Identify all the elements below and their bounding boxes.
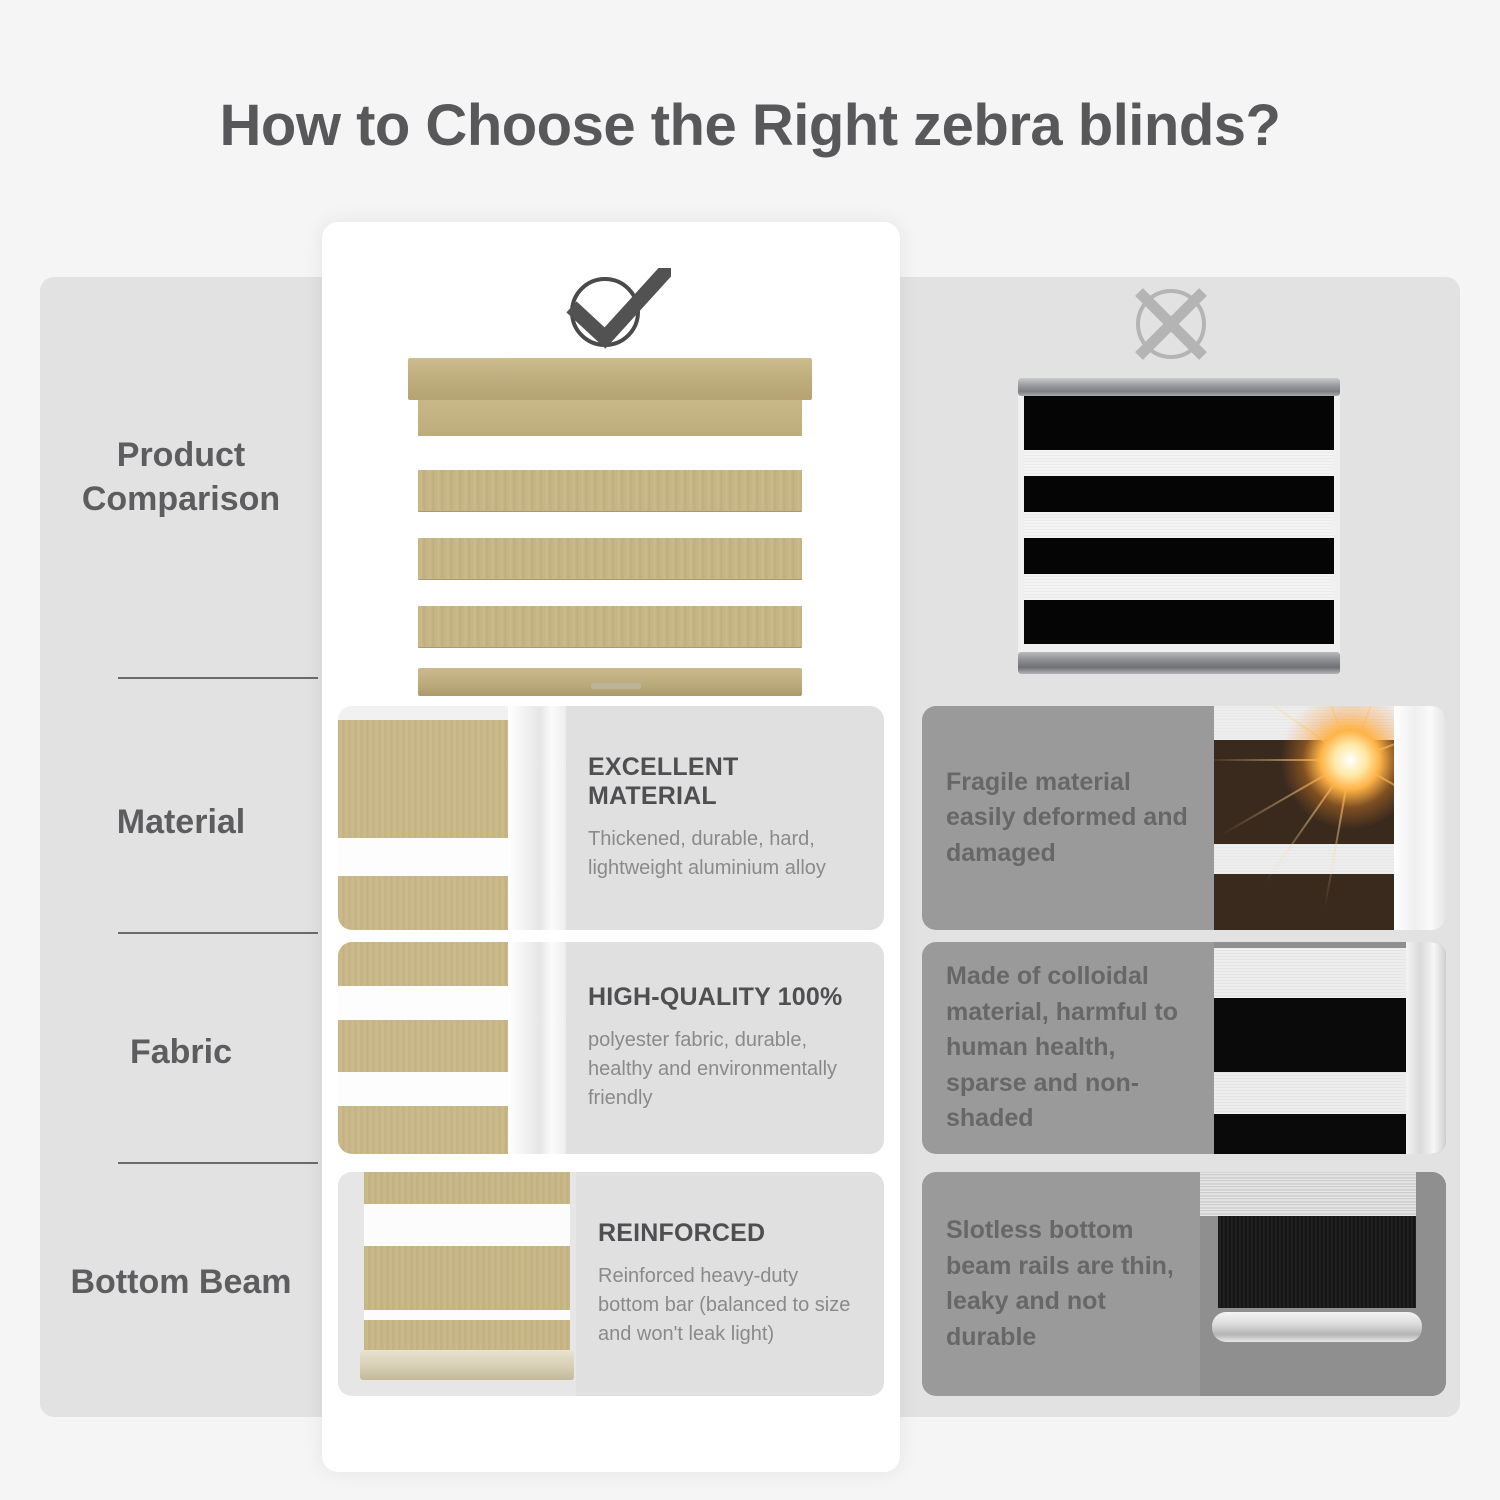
blind-bottom-rail <box>1018 652 1340 674</box>
blind-sheer-band <box>1024 450 1334 476</box>
feature-text-block: Made of colloidal material, harmful to h… <box>922 942 1214 1154</box>
category-sidebar: Product Comparison Material Fabric Botto… <box>40 277 322 1417</box>
feature-title: REINFORCED <box>598 1219 862 1248</box>
black-zebra-blind-hero-image <box>1018 378 1340 674</box>
feature-text-block: REINFORCED Reinforced heavy-duty bottom … <box>576 1172 884 1396</box>
feature-card-bottom-beam-good: REINFORCED Reinforced heavy-duty bottom … <box>338 1172 884 1396</box>
feature-title: EXCELLENT MATERIAL <box>588 753 862 811</box>
feature-description: Reinforced heavy-duty bottom bar (balanc… <box>598 1262 862 1349</box>
feature-text-block: EXCELLENT MATERIAL Thickened, durable, h… <box>566 706 884 930</box>
blind-sheer-band <box>1024 512 1334 538</box>
page-title: How to Choose the Right zebra blinds? <box>0 92 1500 159</box>
blind-headrail <box>408 358 812 400</box>
sidebar-item-label: Product Comparison <box>40 433 322 521</box>
feature-text-block: Fragile material easily deformed and dam… <box>922 706 1214 930</box>
feature-negative-text: Fragile material easily deformed and dam… <box>946 765 1192 872</box>
thin-bottom-rail <box>1212 1312 1422 1342</box>
tan-reinforced-beam-image <box>338 1172 576 1396</box>
feature-text-block: HIGH-QUALITY 100% polyester fabric, dura… <box>566 942 884 1154</box>
blind-headrail <box>1018 378 1340 396</box>
blind-sheer-band <box>1024 574 1334 600</box>
sidebar-item-product-comparison: Product Comparison <box>40 407 322 547</box>
tan-blind-closeup-image <box>338 706 566 930</box>
sidebar-divider <box>118 677 318 679</box>
blind-slat <box>418 606 802 648</box>
feature-description: polyester fabric, durable, healthy and e… <box>588 1026 862 1113</box>
sidebar-item-material: Material <box>40 767 322 877</box>
sidebar-item-label: Fabric <box>130 1030 232 1074</box>
feature-card-bottom-beam-bad: Slotless bottom beam rails are thin, lea… <box>922 1172 1446 1396</box>
blind-slat <box>418 538 802 580</box>
feature-title: HIGH-QUALITY 100% <box>588 983 862 1012</box>
feature-description: Thickened, durable, hard, lightweight al… <box>588 825 862 883</box>
sidebar-divider <box>118 932 318 934</box>
sidebar-item-label: Material <box>117 800 246 844</box>
sidebar-divider <box>118 1162 318 1164</box>
feature-card-material-good: EXCELLENT MATERIAL Thickened, durable, h… <box>338 706 884 930</box>
blind-bottom-bar <box>418 668 802 696</box>
sidebar-item-label: Bottom Beam <box>70 1260 291 1304</box>
check-circle-icon <box>561 268 671 350</box>
blind-fabric-body <box>1024 396 1334 644</box>
thin-slotless-rail-image <box>1200 1172 1446 1396</box>
feature-card-fabric-bad: Made of colloidal material, harmful to h… <box>922 942 1446 1154</box>
tan-zebra-blind-hero-image <box>408 358 812 696</box>
sidebar-item-fabric: Fabric <box>40 997 322 1107</box>
window-light-leak-image <box>1214 706 1446 930</box>
cross-circle-icon <box>1125 283 1217 365</box>
feature-card-material-bad: Fragile material easily deformed and dam… <box>922 706 1446 930</box>
feature-card-fabric-good: HIGH-QUALITY 100% polyester fabric, dura… <box>338 942 884 1154</box>
sidebar-item-bottom-beam: Bottom Beam <box>40 1207 322 1357</box>
tan-blind-fabric-image <box>338 942 566 1154</box>
feature-negative-text: Slotless bottom beam rails are thin, lea… <box>946 1213 1178 1355</box>
feature-negative-text: Made of colloidal material, harmful to h… <box>946 959 1192 1137</box>
feature-text-block: Slotless bottom beam rails are thin, lea… <box>922 1172 1200 1396</box>
blind-slat <box>418 470 802 512</box>
black-white-stripe-fabric-image <box>1214 942 1446 1154</box>
